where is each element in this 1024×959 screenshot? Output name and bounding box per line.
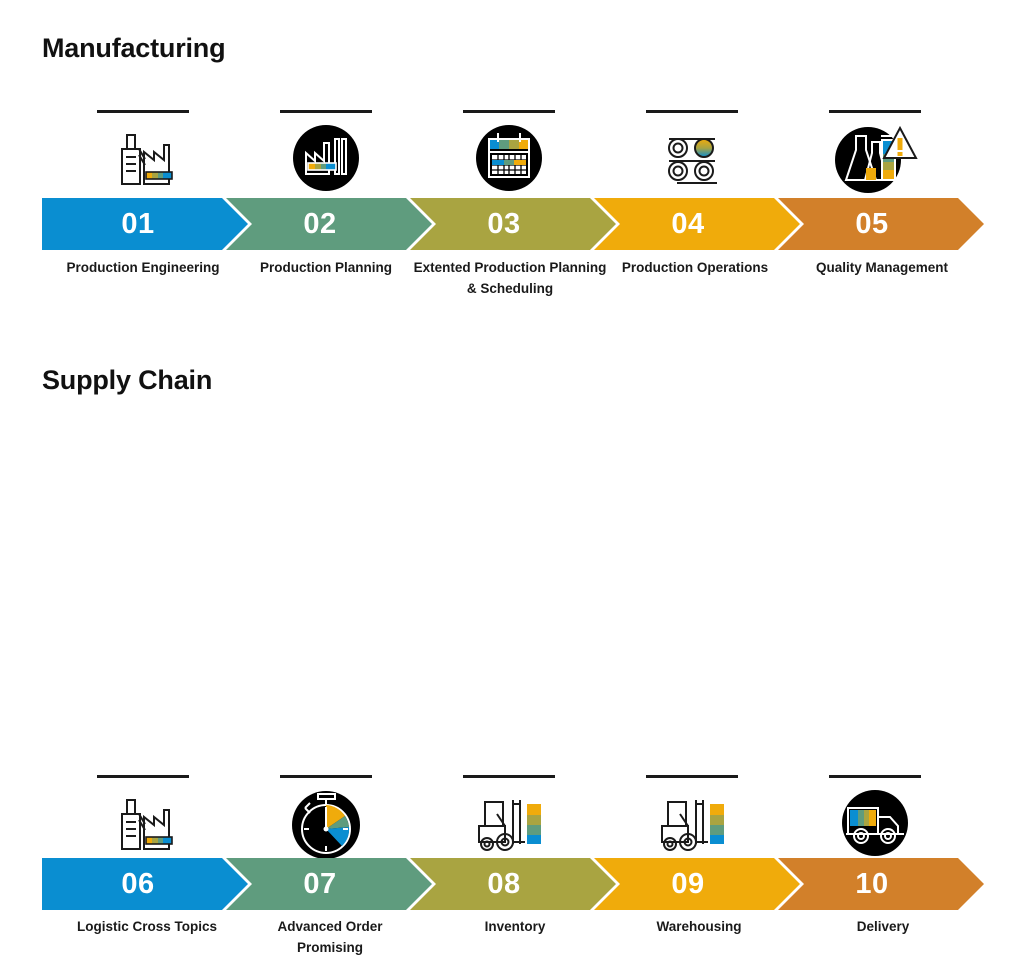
factory-circle-icon — [287, 119, 365, 197]
chevron-number-09: 09 — [671, 870, 704, 899]
icon-card-02 — [280, 110, 372, 203]
forklift-icon — [652, 792, 732, 854]
chevron-step-02[interactable]: 02 — [226, 198, 432, 250]
chevron-step-07[interactable]: 07 — [226, 858, 432, 910]
icon-card-row-supply-chain — [0, 775, 1024, 870]
icon-card-04 — [646, 110, 738, 203]
chevron-number-06: 06 — [121, 870, 154, 899]
chevron-step-01[interactable]: 01 — [42, 198, 248, 250]
chevron-step-06[interactable]: 06 — [42, 858, 248, 910]
step-label-08: Inventory — [434, 917, 596, 938]
icon-card-row-manufacturing — [0, 110, 1024, 205]
lab-flask-warning-icon — [832, 118, 918, 198]
icon-card-06 — [97, 775, 189, 868]
step-label-01: Production Engineering — [52, 258, 234, 279]
icon-card-09 — [646, 775, 738, 868]
section-title-supply-chain: Supply Chain — [42, 365, 212, 396]
chevron-number-04: 04 — [671, 210, 704, 239]
step-label-06: Logistic Cross Topics — [52, 917, 242, 938]
step-label-10: Delivery — [802, 917, 964, 938]
step-label-03: Extented Production Planning & Schedulin… — [412, 258, 608, 300]
chevron-number-08: 08 — [487, 870, 520, 899]
factory-icon — [106, 792, 180, 854]
chevron-step-09[interactable]: 09 — [594, 858, 800, 910]
forklift-icon — [469, 792, 549, 854]
chevron-number-10: 10 — [855, 870, 888, 899]
icon-card-05 — [829, 110, 921, 203]
icon-card-03 — [463, 110, 555, 203]
step-label-07: Advanced Order Promising — [248, 917, 412, 959]
chevron-step-10[interactable]: 10 — [778, 858, 984, 910]
chevron-number-07: 07 — [303, 870, 336, 899]
chevron-number-02: 02 — [303, 210, 336, 239]
icon-card-10 — [829, 775, 921, 868]
chevron-strip-supply-chain: 06 07 08 09 10 — [42, 858, 982, 910]
section-title-manufacturing: Manufacturing — [42, 33, 225, 64]
chevron-step-03[interactable]: 03 — [410, 198, 616, 250]
chevron-step-04[interactable]: 04 — [594, 198, 800, 250]
chevron-strip-manufacturing: 01 02 03 04 05 — [42, 198, 982, 250]
step-label-05: Quality Management — [784, 258, 980, 279]
icon-card-08 — [463, 775, 555, 868]
calendar-circle-icon — [470, 119, 548, 197]
icon-card-01 — [97, 110, 189, 203]
stopwatch-circle-icon — [287, 783, 365, 863]
chevron-number-05: 05 — [855, 210, 888, 239]
chevron-number-03: 03 — [487, 210, 520, 239]
step-label-04: Production Operations — [614, 258, 776, 279]
step-label-09: Warehousing — [618, 917, 780, 938]
step-label-02: Production Planning — [228, 258, 424, 279]
chevron-number-01: 01 — [121, 210, 154, 239]
rollers-icon — [655, 123, 729, 193]
factory-icon — [106, 127, 180, 189]
icon-card-07 — [280, 775, 372, 868]
chevron-step-08[interactable]: 08 — [410, 858, 616, 910]
truck-circle-icon — [836, 784, 914, 862]
chevron-step-05[interactable]: 05 — [778, 198, 984, 250]
